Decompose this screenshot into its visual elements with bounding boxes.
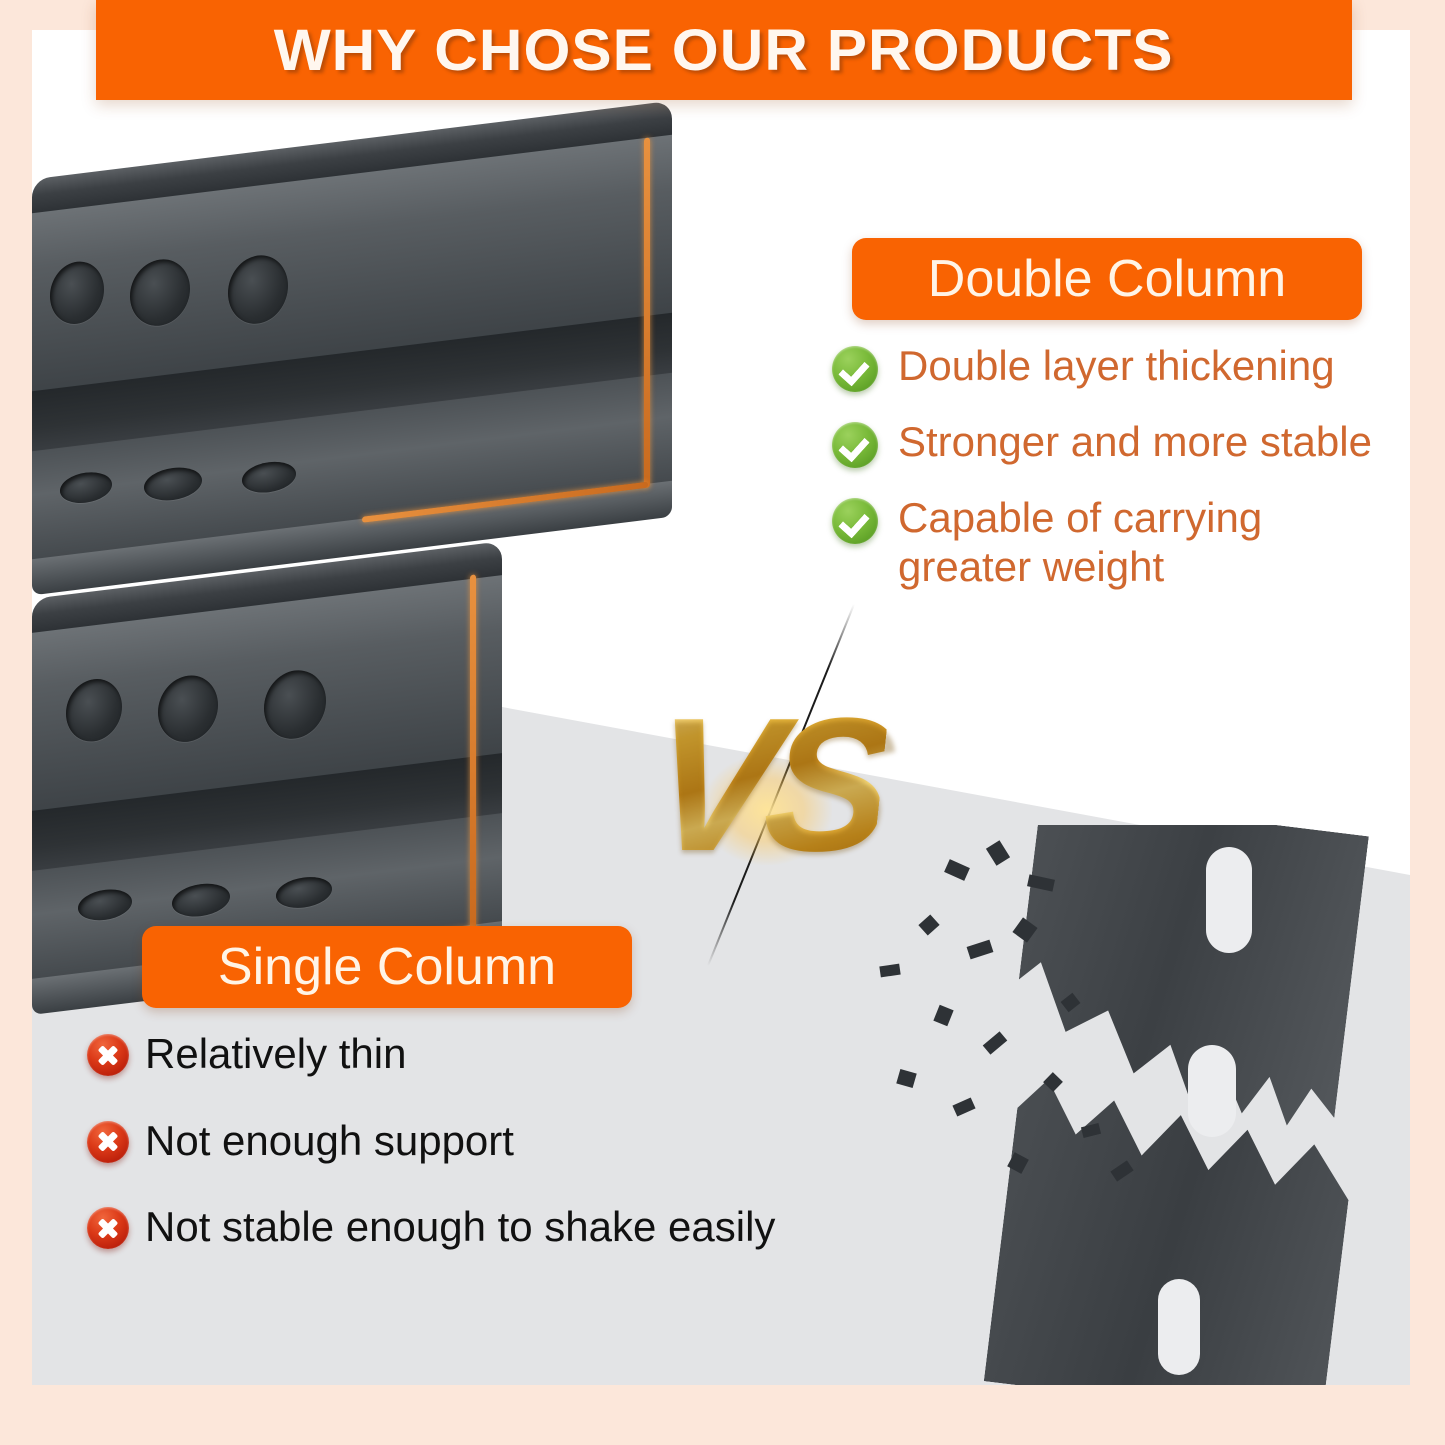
beam-edge-highlight	[470, 574, 476, 931]
feature-row: Stronger and more stable	[832, 418, 1410, 468]
infographic-canvas: VS Double Column Double layer thickening…	[0, 0, 1445, 1445]
debris-fragment	[952, 1097, 975, 1116]
cross-circle-icon	[87, 1121, 129, 1163]
feature-row: Not enough support	[87, 1117, 887, 1166]
feature-label: Not enough support	[145, 1117, 514, 1166]
versus-label: VS	[642, 690, 891, 880]
debris-fragment	[986, 840, 1010, 865]
cross-circle-icon	[87, 1207, 129, 1249]
feature-label: Stronger and more stable	[898, 418, 1372, 467]
feature-label: Not stable enough to shake easily	[145, 1203, 775, 1252]
double-column-product-image	[32, 140, 822, 600]
feature-row: Capable of carrying greater weight	[832, 494, 1410, 591]
check-circle-icon	[832, 346, 878, 392]
single-column-feature-list: Relatively thin Not enough support Not s…	[87, 1030, 887, 1252]
broken-beam-slot	[1158, 1279, 1200, 1375]
feature-row: Double layer thickening	[832, 342, 1410, 392]
feature-label: Capable of carrying greater weight	[898, 494, 1318, 591]
header-banner: WHY CHOSE OUR PRODUCTS	[96, 0, 1352, 100]
check-circle-icon	[832, 498, 878, 544]
debris-fragment	[967, 940, 994, 960]
broken-beam-slot	[1206, 847, 1252, 953]
content-card: VS Double Column Double layer thickening…	[32, 30, 1410, 1385]
debris-fragment	[918, 914, 939, 935]
badge-single-column-label: Single Column	[218, 937, 556, 997]
broken-beam-image	[850, 825, 1410, 1385]
check-circle-icon	[832, 422, 878, 468]
feature-row: Not stable enough to shake easily	[87, 1203, 887, 1252]
feature-label: Double layer thickening	[898, 342, 1335, 391]
debris-fragment	[944, 859, 970, 881]
debris-fragment	[879, 964, 900, 978]
debris-fragment	[933, 1005, 953, 1026]
double-column-feature-list: Double layer thickening Stronger and mor…	[832, 342, 1410, 591]
badge-double-column: Double Column	[852, 238, 1362, 320]
feature-label: Relatively thin	[145, 1030, 406, 1079]
steel-beam-rear	[32, 101, 672, 610]
cross-circle-icon	[87, 1034, 129, 1076]
feature-row: Relatively thin	[87, 1030, 887, 1079]
broken-beam-slot	[1188, 1045, 1236, 1137]
badge-double-column-label: Double Column	[928, 249, 1286, 309]
page-title: WHY CHOSE OUR PRODUCTS	[274, 17, 1174, 84]
debris-fragment	[896, 1069, 916, 1088]
badge-single-column: Single Column	[142, 926, 632, 1008]
beam-edge-highlight	[644, 137, 650, 488]
versus-emblem: VS	[632, 660, 902, 910]
debris-fragment	[983, 1031, 1008, 1054]
